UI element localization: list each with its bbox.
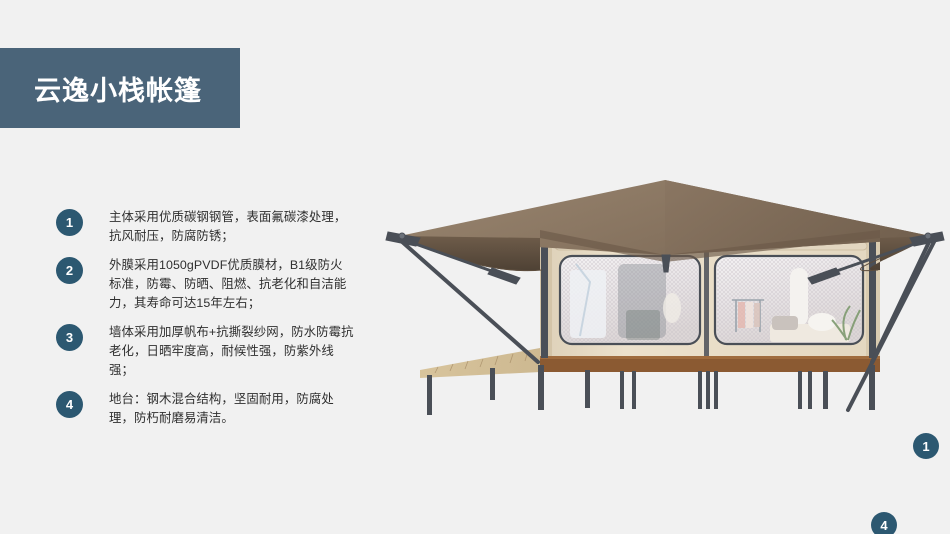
feature-badge-2: 2 bbox=[56, 257, 83, 284]
list-item: 3 墙体采用加厚帆布+抗撕裂纱网，防水防霉抗老化，日晒牢度高，耐候性强，防紫外线… bbox=[56, 323, 356, 380]
window-left bbox=[560, 256, 700, 344]
tent-product-image: 1 2 3 4 bbox=[380, 160, 950, 440]
feature-text-2: 外膜采用1050gPVDF优质膜材，B1级防火标准，防霉、防晒、阻燃、抗老化和自… bbox=[109, 256, 355, 313]
list-item: 1 主体采用优质碳钢钢管，表面氟碳漆处理，抗风耐压，防腐防锈； bbox=[56, 208, 356, 246]
page-title: 云逸小栈帐篷 bbox=[0, 69, 202, 108]
feature-badge-3: 3 bbox=[56, 324, 83, 351]
feature-badge-1: 1 bbox=[56, 209, 83, 236]
feature-text-3: 墙体采用加厚帆布+抗撕裂纱网，防水防霉抗老化，日晒牢度高，耐候性强，防紫外线强； bbox=[109, 323, 355, 380]
list-item: 4 地台：钢木混合结构，坚固耐用，防腐处理，防朽耐磨易清洁。 bbox=[56, 390, 356, 428]
tent-render-svg bbox=[380, 160, 950, 440]
callout-marker-4[interactable]: 4 bbox=[871, 512, 897, 534]
feature-badge-4: 4 bbox=[56, 391, 83, 418]
callout-marker-1[interactable]: 1 bbox=[913, 433, 939, 459]
feature-text-4: 地台：钢木混合结构，坚固耐用，防腐处理，防朽耐磨易清洁。 bbox=[109, 390, 355, 428]
list-item: 2 外膜采用1050gPVDF优质膜材，B1级防火标准，防霉、防晒、阻燃、抗老化… bbox=[56, 256, 356, 313]
slide-canvas: 云逸小栈帐篷 1 主体采用优质碳钢钢管，表面氟碳漆处理，抗风耐压，防腐防锈； 2… bbox=[0, 0, 950, 534]
feature-text-1: 主体采用优质碳钢钢管，表面氟碳漆处理，抗风耐压，防腐防锈； bbox=[109, 208, 355, 246]
feature-list: 1 主体采用优质碳钢钢管，表面氟碳漆处理，抗风耐压，防腐防锈； 2 外膜采用10… bbox=[56, 208, 356, 438]
title-banner: 云逸小栈帐篷 bbox=[0, 48, 240, 128]
deck-legs bbox=[427, 365, 875, 415]
